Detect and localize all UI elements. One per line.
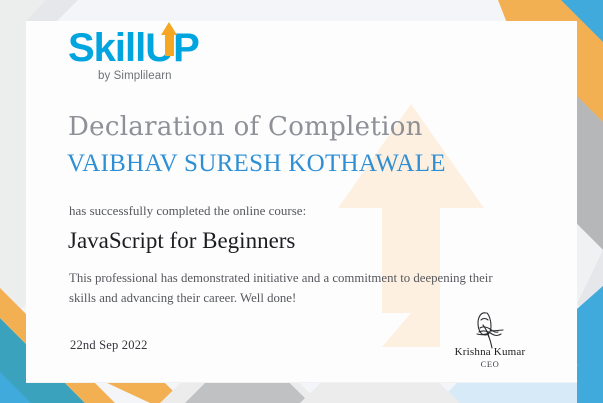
course-name: JavaScript for Beginners [68, 228, 295, 254]
signatory-name: Krishna Kumar [430, 346, 550, 358]
signature-scribble-icon [430, 308, 550, 348]
up-arrow-icon [161, 22, 177, 56]
certificate-canvas: SkillUP by Simplilearn Declaration of Co… [0, 0, 603, 403]
signatory-role: CEO [430, 359, 550, 369]
certificate-content: SkillUP by Simplilearn Declaration of Co… [0, 0, 603, 403]
issue-date: 22nd Sep 2022 [70, 338, 148, 353]
recipient-name: VAIBHAV SURESH KOTHAWALE [67, 150, 446, 178]
course-intro-text: has successfully completed the online co… [69, 203, 306, 219]
signature-block: Krishna Kumar CEO [430, 308, 550, 369]
logo-subtitle: by Simplilearn [98, 70, 268, 82]
certificate-title: Declaration of Completion [68, 112, 423, 142]
logo-text-primary: Skill [68, 26, 145, 70]
certificate-blurb: This professional has demonstrated initi… [69, 269, 501, 309]
skillup-logo: SkillUP by Simplilearn [68, 28, 268, 82]
